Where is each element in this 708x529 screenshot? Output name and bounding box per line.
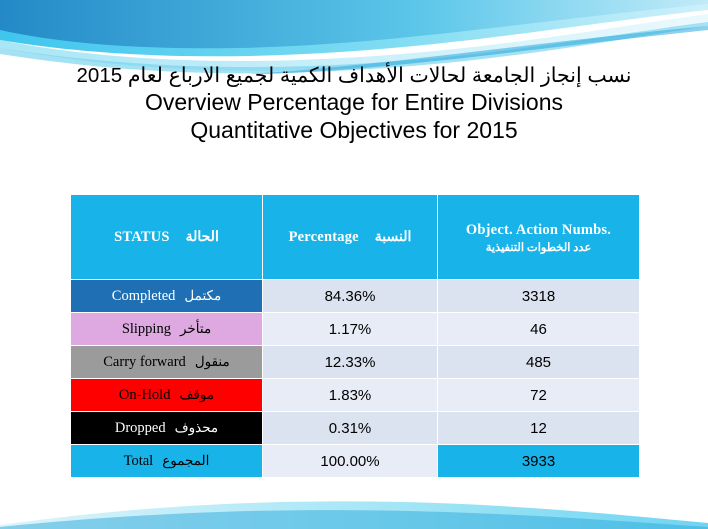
- count-cell: 485: [438, 346, 640, 379]
- count-cell-total: 3933: [438, 445, 640, 478]
- status-label-en: Completed: [112, 288, 176, 304]
- status-label-en: On-Hold: [119, 387, 171, 403]
- header-status: STATUSالحالة: [71, 195, 263, 280]
- title-english-line1: Overview Percentage for Entire Divisions: [0, 88, 708, 116]
- table-row: Slippingمتأخر 1.17% 46: [71, 313, 640, 346]
- header-status-en: STATUS: [114, 229, 169, 246]
- slide-title-block: نسب إنجاز الجامعة لحالات الأهداف الكمية …: [0, 64, 708, 144]
- header-percentage-en: Percentage: [289, 229, 359, 246]
- table-body: Completedمكتمل 84.36% 3318 Slippingمتأخر…: [71, 280, 640, 478]
- header-action-numbers-ar: عدد الخطوات التنفيذية: [438, 240, 639, 254]
- overview-table-wrapper: STATUSالحالة Percentageالنسبة Object. Ac…: [70, 194, 639, 478]
- status-cell-dropped: Droppedمحذوف: [71, 412, 263, 445]
- status-cell-total: Totalالمجموع: [71, 445, 263, 478]
- status-label-en: Carry forward: [103, 354, 186, 370]
- status-label-ar: موقف: [179, 387, 214, 402]
- count-cell: 46: [438, 313, 640, 346]
- table-row: On-Holdموقف 1.83% 72: [71, 379, 640, 412]
- percentage-cell-total: 100.00%: [263, 445, 438, 478]
- table-row-total: Totalالمجموع 100.00% 3933: [71, 445, 640, 478]
- table-row: Droppedمحذوف 0.31% 12: [71, 412, 640, 445]
- status-label-en: Total: [124, 453, 154, 469]
- percentage-cell: 84.36%: [263, 280, 438, 313]
- status-label-ar: المجموع: [162, 453, 209, 468]
- percentage-cell: 1.17%: [263, 313, 438, 346]
- status-cell-completed: Completedمكتمل: [71, 280, 263, 313]
- title-arabic: نسب إنجاز الجامعة لحالات الأهداف الكمية …: [0, 64, 708, 88]
- header-percentage: Percentageالنسبة: [263, 195, 438, 280]
- header-action-numbers: Object. Action Numbs. عدد الخطوات التنفي…: [438, 195, 640, 280]
- status-label-ar: منقول: [195, 354, 230, 369]
- table-row: Carry forwardمنقول 12.33% 485: [71, 346, 640, 379]
- status-label-en: Dropped: [115, 420, 166, 436]
- status-label-ar: مكتمل: [184, 288, 221, 303]
- percentage-cell: 12.33%: [263, 346, 438, 379]
- status-cell-slipping: Slippingمتأخر: [71, 313, 263, 346]
- footer-decoration: [0, 489, 708, 529]
- header-status-ar: الحالة: [186, 229, 219, 246]
- status-cell-on-hold: On-Holdموقف: [71, 379, 263, 412]
- status-label-ar: محذوف: [175, 420, 219, 435]
- status-cell-carry-forward: Carry forwardمنقول: [71, 346, 263, 379]
- count-cell: 3318: [438, 280, 640, 313]
- count-cell: 12: [438, 412, 640, 445]
- title-english-line2: Quantitative Objectives for 2015: [0, 116, 708, 144]
- count-cell: 72: [438, 379, 640, 412]
- percentage-cell: 0.31%: [263, 412, 438, 445]
- table-row: Completedمكتمل 84.36% 3318: [71, 280, 640, 313]
- table-header: STATUSالحالة Percentageالنسبة Object. Ac…: [71, 195, 640, 280]
- status-label-ar: متأخر: [180, 321, 211, 336]
- header-action-numbers-en: Object. Action Numbs.: [466, 222, 611, 238]
- percentage-cell: 1.83%: [263, 379, 438, 412]
- table-header-row: STATUSالحالة Percentageالنسبة Object. Ac…: [71, 195, 640, 280]
- header-percentage-ar: النسبة: [375, 229, 412, 246]
- header-decoration: [0, 0, 708, 74]
- overview-table: STATUSالحالة Percentageالنسبة Object. Ac…: [70, 194, 640, 478]
- status-label-en: Slipping: [122, 321, 171, 337]
